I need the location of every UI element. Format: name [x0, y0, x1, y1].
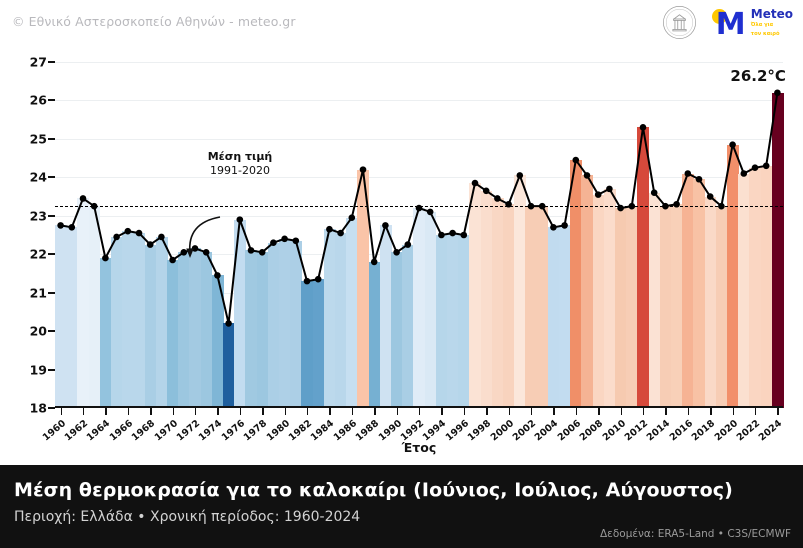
- bar[interactable]: [458, 235, 470, 408]
- y-axis-label-holder: Μέση θερμοκρασία [°C]: [2, 62, 20, 408]
- x-tick-mark: [733, 408, 734, 415]
- x-tick-mark: [643, 408, 644, 415]
- bar[interactable]: [727, 145, 739, 408]
- x-tick-mark: [621, 408, 622, 415]
- chart-page: © Εθνικό Αστεροσκοπείο Αθηνών - meteo.gr…: [0, 0, 803, 548]
- y-tick-label: 21: [23, 285, 47, 300]
- bar[interactable]: [581, 175, 593, 408]
- bar[interactable]: [346, 218, 358, 408]
- bar[interactable]: [615, 208, 627, 408]
- plot-area: [55, 62, 783, 408]
- bar[interactable]: [436, 235, 448, 408]
- bar[interactable]: [167, 260, 179, 408]
- bar[interactable]: [145, 245, 157, 408]
- y-tick-label: 20: [23, 324, 47, 339]
- bar[interactable]: [649, 193, 661, 408]
- bar[interactable]: [693, 179, 705, 408]
- y-tick-mark: [48, 369, 55, 371]
- x-tick-mark: [531, 408, 532, 415]
- chart-container: Μέση θερμοκρασία [°C] 181920212223242526…: [0, 50, 803, 465]
- x-tick-mark: [441, 408, 442, 415]
- x-tick-mark: [464, 408, 465, 415]
- bar[interactable]: [178, 252, 190, 408]
- y-tick-mark: [48, 138, 55, 140]
- x-tick-mark: [576, 408, 577, 415]
- y-tick-mark: [48, 407, 55, 409]
- bar[interactable]: [682, 174, 694, 409]
- bar[interactable]: [525, 206, 537, 408]
- bar[interactable]: [369, 262, 381, 408]
- meteo-logo: M Meteo Όλα για τον καιρό: [711, 8, 793, 38]
- bar[interactable]: [335, 233, 347, 408]
- x-tick-mark: [217, 408, 218, 415]
- bar[interactable]: [189, 248, 201, 408]
- bar[interactable]: [660, 206, 672, 408]
- x-tick-mark: [598, 408, 599, 415]
- gridline: [55, 62, 783, 63]
- bar[interactable]: [593, 195, 605, 408]
- x-tick-mark: [688, 408, 689, 415]
- mean-value-annotation: Μέση τιμή 1991-2020: [185, 150, 295, 178]
- mean-annotation-arrow-icon: [180, 215, 230, 260]
- x-tick-mark: [553, 408, 554, 415]
- bar[interactable]: [604, 189, 616, 408]
- x-tick-mark: [173, 408, 174, 415]
- footer-subtitle: Περιοχή: Ελλάδα • Χρονική περίοδος: 1960…: [14, 509, 360, 525]
- mean-annotation-period: 1991-2020: [185, 164, 295, 178]
- bar[interactable]: [425, 212, 437, 408]
- bar[interactable]: [212, 275, 224, 408]
- bar[interactable]: [290, 241, 302, 408]
- bar[interactable]: [749, 168, 761, 408]
- y-tick-label: 25: [23, 131, 47, 146]
- bar[interactable]: [223, 323, 235, 408]
- bar[interactable]: [469, 183, 481, 408]
- x-tick-mark: [61, 408, 62, 415]
- x-tick-mark: [665, 408, 666, 415]
- bar[interactable]: [391, 252, 403, 408]
- copyright-text: © Εθνικό Αστεροσκοπείο Αθηνών - meteo.gr: [12, 14, 296, 29]
- bar[interactable]: [559, 225, 571, 408]
- x-tick-mark: [240, 408, 241, 415]
- bar[interactable]: [55, 225, 67, 408]
- bar[interactable]: [122, 231, 134, 408]
- x-axis-label: Έτος: [55, 440, 783, 455]
- peak-value-label: 26.2°C: [730, 67, 786, 85]
- y-tick-label: 18: [23, 401, 47, 416]
- bar[interactable]: [492, 198, 504, 408]
- x-tick-mark: [352, 408, 353, 415]
- y-tick-mark: [48, 215, 55, 217]
- x-tick-mark: [755, 408, 756, 415]
- bar[interactable]: [89, 206, 101, 408]
- y-tick-mark: [48, 330, 55, 332]
- bar[interactable]: [514, 175, 526, 408]
- y-tick-label: 26: [23, 93, 47, 108]
- bar[interactable]: [402, 245, 414, 408]
- meteo-wordmark: Meteo: [751, 8, 793, 20]
- y-tick-mark: [48, 61, 55, 63]
- bar[interactable]: [637, 127, 649, 408]
- bar[interactable]: [245, 250, 257, 408]
- bar[interactable]: [705, 197, 717, 408]
- bar[interactable]: [738, 174, 750, 409]
- bar[interactable]: [111, 237, 123, 408]
- footer-banner: Μέση θερμοκρασία για το καλοκαίρι (Ιούνι…: [0, 465, 803, 548]
- bar[interactable]: [268, 243, 280, 408]
- bar[interactable]: [570, 160, 582, 408]
- bar[interactable]: [548, 227, 560, 408]
- x-tick-mark: [329, 408, 330, 415]
- mean-annotation-title: Μέση τιμή: [185, 150, 295, 164]
- y-tick-label: 19: [23, 362, 47, 377]
- bar[interactable]: [313, 279, 325, 408]
- x-tick-mark: [195, 408, 196, 415]
- bar[interactable]: [761, 166, 773, 408]
- bar[interactable]: [716, 206, 728, 408]
- y-tick-mark: [48, 253, 55, 255]
- mean-reference-line: [55, 206, 783, 207]
- bar[interactable]: [626, 206, 638, 408]
- x-tick-mark: [509, 408, 510, 415]
- meteo-tagline-2: τον καιρό: [751, 31, 793, 38]
- bar[interactable]: [413, 208, 425, 408]
- gridline: [55, 139, 783, 140]
- bar[interactable]: [447, 233, 459, 408]
- meteo-m-letter: M: [716, 14, 745, 36]
- meteo-mark-icon: M: [711, 8, 747, 38]
- y-tick-label: 24: [23, 170, 47, 185]
- x-tick-mark: [486, 408, 487, 415]
- x-tick-mark: [374, 408, 375, 415]
- meteo-tagline-1: Όλα για: [751, 22, 793, 29]
- y-tick-mark: [48, 99, 55, 101]
- bar[interactable]: [301, 281, 313, 408]
- bar[interactable]: [77, 198, 89, 408]
- y-tick-label: 22: [23, 247, 47, 262]
- y-tick-label: 27: [23, 55, 47, 70]
- x-tick-mark: [285, 408, 286, 415]
- bar[interactable]: [234, 220, 246, 408]
- national-observatory-seal-icon: [662, 5, 697, 40]
- bar[interactable]: [279, 239, 291, 408]
- x-tick-mark: [419, 408, 420, 415]
- y-tick-mark: [48, 176, 55, 178]
- x-tick-mark: [83, 408, 84, 415]
- footer-source: Δεδομένα: ERA5-Land • C3S/ECMWF: [600, 528, 791, 540]
- logo-group: M Meteo Όλα για τον καιρό: [662, 5, 793, 40]
- bar[interactable]: [537, 206, 549, 408]
- footer-title: Μέση θερμοκρασία για το καλοκαίρι (Ιούνι…: [14, 479, 733, 501]
- bar[interactable]: [324, 229, 336, 408]
- x-tick-mark: [262, 408, 263, 415]
- bar[interactable]: [66, 227, 78, 408]
- bar[interactable]: [772, 93, 784, 408]
- x-tick-mark: [777, 408, 778, 415]
- bar[interactable]: [133, 233, 145, 408]
- x-tick-mark: [150, 408, 151, 415]
- x-tick-mark: [307, 408, 308, 415]
- bar[interactable]: [503, 204, 515, 408]
- gridline: [55, 100, 783, 101]
- bar[interactable]: [671, 204, 683, 408]
- x-tick-mark: [397, 408, 398, 415]
- bar[interactable]: [481, 191, 493, 408]
- y-tick-label: 23: [23, 208, 47, 223]
- bar[interactable]: [257, 252, 269, 408]
- bar[interactable]: [100, 258, 112, 408]
- bar[interactable]: [380, 225, 392, 408]
- bar[interactable]: [156, 237, 168, 408]
- x-tick-mark: [710, 408, 711, 415]
- gridline: [55, 177, 783, 178]
- x-tick-mark: [128, 408, 129, 415]
- y-tick-mark: [48, 292, 55, 294]
- bar[interactable]: [201, 252, 213, 408]
- x-tick-mark: [105, 408, 106, 415]
